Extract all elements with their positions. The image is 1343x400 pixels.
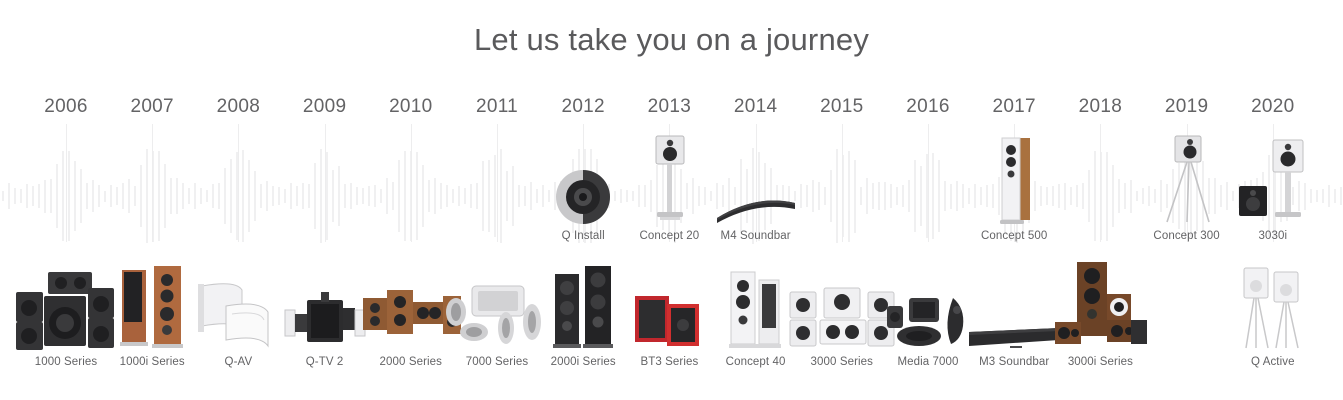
curved-soundbar-icon [696, 130, 816, 226]
year-label-2018: 2018 [1057, 96, 1143, 118]
year-label-2020: 2020 [1230, 96, 1316, 118]
year-tick-2011 [497, 124, 498, 242]
year-label-2013: 2013 [626, 96, 712, 118]
product-bottom-2020[interactable]: Q Active [1213, 258, 1333, 368]
waveform-bar [20, 189, 22, 203]
year-tick-2015 [842, 124, 843, 242]
year-tick-2016 [928, 124, 929, 242]
product-label: Concept 500 [954, 230, 1074, 242]
page-title: Let us take you on a journey [0, 22, 1343, 58]
waveform-bar [1334, 189, 1336, 203]
year-label-2017: 2017 [971, 96, 1057, 118]
waveform-bar [14, 188, 16, 203]
product-label: 3030i [1213, 230, 1333, 242]
year-label-2015: 2015 [799, 96, 885, 118]
year-tick-2008 [238, 124, 239, 242]
year-tick-2018 [1100, 124, 1101, 242]
walnut-tower-system-icon [1040, 258, 1160, 352]
year-label-2014: 2014 [713, 96, 799, 118]
white-active-speakers-icon [1213, 258, 1333, 352]
waveform-bar [2, 191, 4, 201]
year-label-2012: 2012 [540, 96, 626, 118]
year-tick-2007 [152, 124, 153, 242]
year-tick-2006 [66, 124, 67, 242]
year-tick-2010 [411, 124, 412, 242]
product-bottom-2018[interactable]: 3000i Series [1040, 258, 1160, 368]
waveform-bar [8, 183, 10, 210]
year-label-2010: 2010 [368, 96, 454, 118]
product-top-2017[interactable]: Concept 500 [954, 130, 1074, 242]
year-label-2016: 2016 [885, 96, 971, 118]
year-tick-2009 [325, 124, 326, 242]
year-label-2011: 2011 [454, 96, 540, 118]
year-label-2006: 2006 [23, 96, 109, 118]
product-label: 3000i Series [1040, 356, 1160, 368]
year-label-2007: 2007 [109, 96, 195, 118]
waveform-bar [1340, 187, 1342, 205]
product-label: Q Active [1213, 356, 1333, 368]
timeline: 2006200720082009201020112012201320142015… [0, 96, 1343, 400]
bookshelf-speaker-pair-icon [1213, 130, 1333, 226]
product-top-2014[interactable]: M4 Soundbar [696, 130, 816, 242]
product-label: M4 Soundbar [696, 230, 816, 242]
product-top-2020[interactable]: 3030i [1213, 130, 1333, 242]
year-label-2019: 2019 [1144, 96, 1230, 118]
year-label-2008: 2008 [195, 96, 281, 118]
year-label-2009: 2009 [282, 96, 368, 118]
floorstanding-speaker-wood-icon [954, 130, 1074, 226]
